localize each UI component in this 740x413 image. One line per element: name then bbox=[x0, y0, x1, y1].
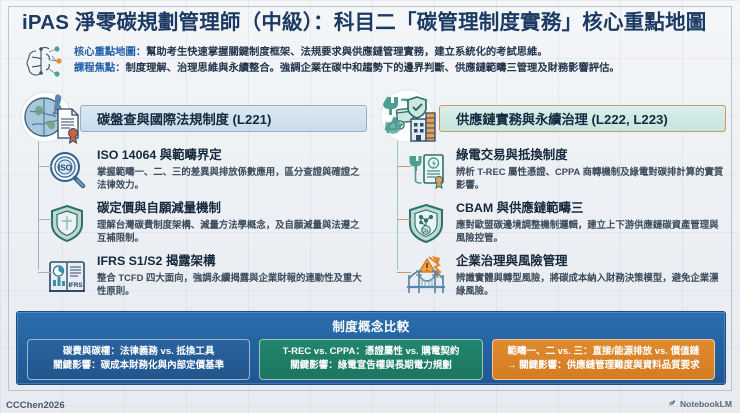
card-line-1: 碳費與碳權：法律義務 vs. 抵換工具 bbox=[34, 345, 243, 359]
green-power-certificate-icon bbox=[405, 149, 447, 191]
intro-text: 幫助考生快速掌握關鍵制度框架、法規要求與供應鏈管理實務，建立系統化的考試思維。 bbox=[146, 47, 548, 58]
comparison-card-scopes[interactable]: 範疇一、二 vs. 三：直接/能源排放 vs. 價值鏈 → 關鍵影響：供應鏈管理… bbox=[492, 339, 715, 380]
svg-text:ISO: ISO bbox=[58, 164, 72, 173]
card-line-2: 關鍵影響：綠電宣告權與長期電力規劃 bbox=[266, 359, 475, 373]
intro-line: 核心重點地圖：幫助考生快速掌握關鍵制度框架、法規要求與供應鏈管理實務，建立系統化… bbox=[74, 45, 620, 61]
column-b-items: 綠電交易與抵換制度 辨析 T-REC 屬性憑證、CPPA 商轉機制及綠電對碳排計… bbox=[377, 144, 726, 304]
list-item[interactable]: 碳定價與自願減量機制 理解台灣碳費制度架構、減量方法學概念，及自願減量與法遵之互… bbox=[30, 197, 367, 250]
item-desc: 辨識實體與轉型風險，將碳成本納入財務決策模型，避免企業漂綠風險。 bbox=[456, 271, 726, 298]
item-desc: 整合 TCFD 四大面向，強調永續揭露與企業財報的連動性及重大性原則。 bbox=[97, 271, 367, 298]
comparison-card-carbon-fee[interactable]: 碳費與碳權：法律義務 vs. 抵換工具 關鍵影響：碳成本財務化與內部定價基準 bbox=[27, 339, 250, 380]
brand-watermark: NotebookLM bbox=[667, 398, 732, 410]
column-b-title: 供應鏈實務與永續治理 (L222, L223) bbox=[439, 105, 726, 132]
item-title: IFRS S1/S2 揭露架構 bbox=[97, 254, 367, 270]
item-title: 碳定價與自願減量機制 bbox=[97, 201, 367, 217]
brain-network-icon bbox=[22, 43, 66, 83]
notebooklm-icon bbox=[667, 398, 677, 410]
item-title: 綠電交易與抵換制度 bbox=[456, 148, 726, 164]
comparison-title: 制度概念比較 bbox=[27, 317, 715, 335]
page-title: iPAS 淨零碳規劃管理師（中級）：科目二「碳管理制度實務」核心重點地圖 bbox=[22, 10, 722, 36]
brand-label: NotebookLM bbox=[680, 399, 732, 409]
header-summary: 核心重點地圖：幫助考生快速掌握關鍵制度框架、法規要求與供應鏈管理實務，建立系統化… bbox=[22, 43, 722, 83]
card-line-2: → 關鍵影響：供應鏈管理難度與資料品質要求 bbox=[499, 359, 708, 373]
list-item[interactable]: Cb₂ CBAM 與供應鏈範疇三 應對歐盟碳邊境調整機制邏輯，建立上下游供應鏈碳… bbox=[389, 197, 726, 250]
list-item[interactable]: 企業治理與風險管理 辨識實體與轉型風險，將碳成本納入財務決策模型，避免企業漂綠風… bbox=[389, 250, 726, 303]
supply-chain-plug-shield-factory-icon bbox=[377, 89, 447, 147]
svg-text:IFRS: IFRS bbox=[68, 282, 82, 289]
item-title: ISO 14064 與範疇界定 bbox=[97, 148, 367, 164]
list-item[interactable]: IFRS IFRS S1/S2 揭露架構 整合 TCFD 四大面向，強調永續揭露… bbox=[30, 250, 367, 303]
focus-text: 制度理解、治理思維與永續整合。強調企業在碳中和趨勢下的邊界判斷、供應鏈範疇三管理… bbox=[125, 63, 619, 74]
focus-line: 課程焦點：制度理解、治理思維與永續整合。強調企業在碳中和趨勢下的邊界判斷、供應鏈… bbox=[74, 61, 620, 77]
comparison-panel: 制度概念比較 碳費與碳權：法律義務 vs. 抵換工具 關鍵影響：碳成本財務化與內… bbox=[16, 311, 726, 385]
item-desc: 掌握範疇一、二、三的差異與排放係數應用，區分查證與確證之法律效力。 bbox=[97, 165, 367, 192]
item-title: 企業治理與風險管理 bbox=[456, 254, 726, 270]
column-supply-chain: 供應鏈實務與永續治理 (L222, L223) bbox=[377, 96, 726, 304]
author-watermark: CCChen2026 bbox=[6, 400, 65, 411]
item-desc: 理解台灣碳費制度架構、減量方法學概念，及自願減量與法遵之互補限制。 bbox=[97, 218, 367, 245]
column-b-header: 供應鏈實務與永續治理 (L222, L223) bbox=[377, 96, 726, 140]
list-item[interactable]: ISO ISO 14064 與範疇界定 掌握範疇一、二、三的差異與排放係數應用，… bbox=[30, 144, 367, 197]
card-line-1: 範疇一、二 vs. 三：直接/能源排放 vs. 價值鏈 bbox=[499, 345, 708, 359]
intro-label: 核心重點地圖： bbox=[74, 47, 146, 58]
infographic-page: iPAS 淨零碳規劃管理師（中級）：科目二「碳管理制度實務」核心重點地圖 bbox=[0, 0, 740, 413]
item-title: CBAM 與供應鏈範疇三 bbox=[456, 201, 726, 217]
bridge-risk-warning-icon bbox=[405, 255, 447, 297]
cbam-shield-molecule-icon: Cb₂ bbox=[405, 202, 447, 244]
column-a-header: 碳盤查與國際法規制度 (L221) bbox=[18, 96, 367, 140]
focus-label: 課程焦點： bbox=[74, 63, 125, 74]
columns-area: 碳盤查與國際法規制度 (L221) ISO bbox=[18, 96, 726, 304]
svg-text:Cb₂: Cb₂ bbox=[421, 229, 431, 235]
ifrs-report-book-icon: IFRS bbox=[46, 255, 88, 297]
list-item[interactable]: 綠電交易與抵換制度 辨析 T-REC 屬性憑證、CPPA 商轉機制及綠電對碳排計… bbox=[389, 144, 726, 197]
comparison-cards: 碳費與碳權：法律義務 vs. 抵換工具 關鍵影響：碳成本財務化與內部定價基準 T… bbox=[27, 339, 715, 380]
iso-magnifier-icon: ISO bbox=[46, 149, 88, 191]
comparison-card-trec-cppa[interactable]: T-REC vs. CPPA：憑證屬性 vs. 購電契約 關鍵影響：綠電宣告權與… bbox=[259, 339, 482, 380]
card-line-1: T-REC vs. CPPA：憑證屬性 vs. 購電契約 bbox=[266, 345, 475, 359]
card-line-2: 關鍵影響：碳成本財務化與內部定價基準 bbox=[34, 359, 243, 373]
column-a-title: 碳盤查與國際法規制度 (L221) bbox=[80, 105, 367, 132]
item-desc: 應對歐盟碳邊境調整機制邏輯，建立上下游供應鏈碳資產管理與風險控管。 bbox=[456, 218, 726, 245]
globe-footprint-certificate-icon bbox=[18, 89, 88, 147]
column-a-items: ISO ISO 14064 與範疇界定 掌握範疇一、二、三的差異與排放係數應用，… bbox=[18, 144, 367, 304]
item-desc: 辨析 T-REC 屬性憑證、CPPA 商轉機制及綠電對碳排計算的實質影響。 bbox=[456, 165, 726, 192]
header: iPAS 淨零碳規劃管理師（中級）：科目二「碳管理制度實務」核心重點地圖 bbox=[22, 10, 722, 83]
column-carbon-inventory: 碳盤查與國際法規制度 (L221) ISO bbox=[18, 96, 367, 304]
shield-carbon-pricing-icon bbox=[46, 202, 88, 244]
